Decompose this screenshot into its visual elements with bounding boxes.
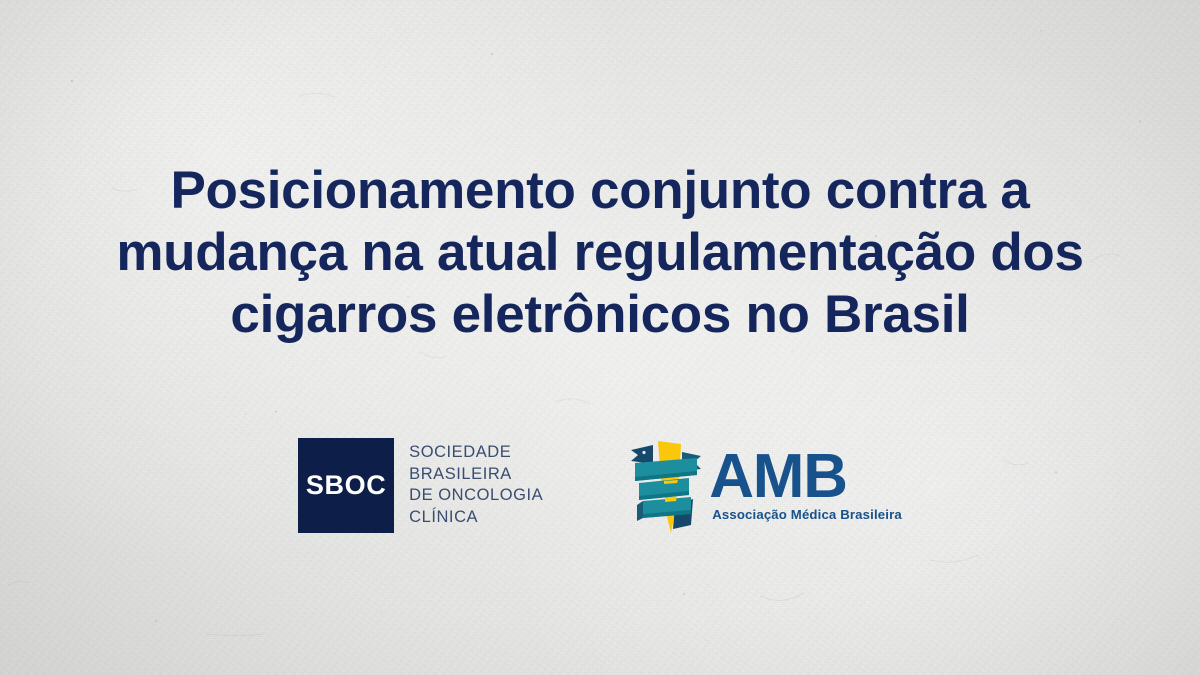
sboc-wordmark-line-4: CLÍNICA: [409, 507, 543, 529]
amb-tagline: Associação Médica Brasileira: [709, 507, 902, 522]
sboc-logo: SBOC SOCIEDADE BRASILEIRA DE ONCOLOGIA C…: [298, 438, 543, 533]
headline-line-2: mudança na atual regulamentação dos: [54, 222, 1146, 284]
sboc-mark-label: SBOC: [306, 472, 386, 499]
sboc-wordmark-line-2: BRASILEIRA: [409, 464, 543, 486]
sboc-mark-icon: SBOC: [298, 438, 394, 533]
amb-title: AMB: [709, 448, 847, 506]
amb-wordmark: AMB Associação Médica Brasileira: [709, 448, 902, 522]
logo-strip: SBOC SOCIEDADE BRASILEIRA DE ONCOLOGIA C…: [0, 430, 1200, 540]
sboc-wordmark-line-1: SOCIEDADE: [409, 442, 543, 464]
headline-line-1: Posicionamento conjunto contra a: [54, 160, 1146, 222]
sboc-wordmark: SOCIEDADE BRASILEIRA DE ONCOLOGIA CLÍNIC…: [409, 442, 543, 528]
caduceus-ribbon-emblem-icon: [627, 433, 707, 537]
poster-headline: Posicionamento conjunto contra a mudança…: [0, 160, 1200, 346]
amb-logo: AMB Associação Médica Brasileira: [627, 433, 902, 537]
sboc-wordmark-line-3: DE ONCOLOGIA: [409, 485, 543, 507]
poster-canvas: Posicionamento conjunto contra a mudança…: [0, 0, 1200, 675]
headline-line-3: cigarros eletrônicos no Brasil: [54, 284, 1146, 346]
